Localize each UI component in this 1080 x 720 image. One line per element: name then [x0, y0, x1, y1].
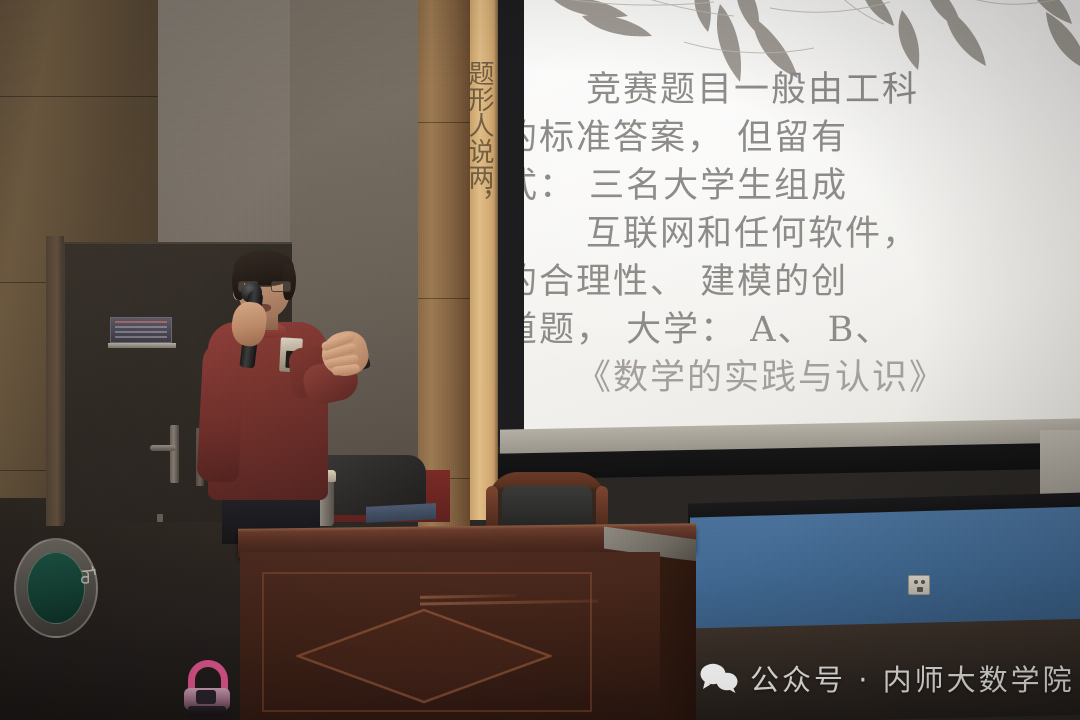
slide-line-7: 《数学的实践与认识》 — [524, 354, 1080, 402]
door-notice-sign — [110, 317, 172, 343]
slide-line-3: 式： 三名大学生组成 — [524, 162, 1080, 210]
speaker-arm-left — [196, 341, 245, 483]
university-emblem: ᠮᠤ — [14, 538, 98, 638]
emblem-mongolian-glyph: ᠮᠤ — [14, 552, 98, 598]
speaker-figure — [186, 250, 366, 540]
toy-face — [196, 690, 216, 704]
door-lever-icon[interactable] — [150, 445, 176, 451]
door-sign-strip — [108, 343, 176, 348]
photo-canvas: 题形人说两， — [0, 0, 1080, 720]
desk-diamond-inlay — [296, 608, 552, 704]
wechat-icon — [700, 663, 738, 693]
watermark: 公众号 · 内师大数学院 — [700, 657, 1075, 699]
office-chair-arm-left — [486, 486, 498, 530]
slide-line-1: 竞赛题目一般由工科 — [524, 66, 1080, 114]
door-peephole-icon — [157, 514, 163, 522]
watermark-text: 公众号 · 内师大数学院 — [750, 657, 1075, 699]
column-overlay-text: 题形人说两， — [468, 60, 502, 480]
slide-line-2: 的标准答案， 但留有 — [524, 114, 1080, 162]
power-outlet-icon — [908, 575, 930, 595]
slide-line-4: 互联网和任何软件， — [524, 210, 1080, 258]
column-dark-wood — [418, 0, 470, 540]
slide-line-5: 的合理性、 建模的创 — [524, 258, 1080, 306]
pink-toy-object — [180, 660, 234, 716]
projection-screen: 竞赛题目一般由工科 的标准答案， 但留有 式： 三名大学生组成 互联网和任何软件… — [524, 0, 1080, 430]
door-handle[interactable] — [170, 425, 179, 483]
slide-line-6: 道题， 大学： A、 B、 — [524, 306, 1080, 354]
toy-base — [188, 706, 226, 716]
office-chair-cushion — [502, 486, 592, 528]
glasses-lens-right — [271, 281, 291, 292]
slide-text-block: 竞赛题目一般由工科 的标准答案， 但留有 式： 三名大学生组成 互联网和任何软件… — [524, 66, 1080, 402]
